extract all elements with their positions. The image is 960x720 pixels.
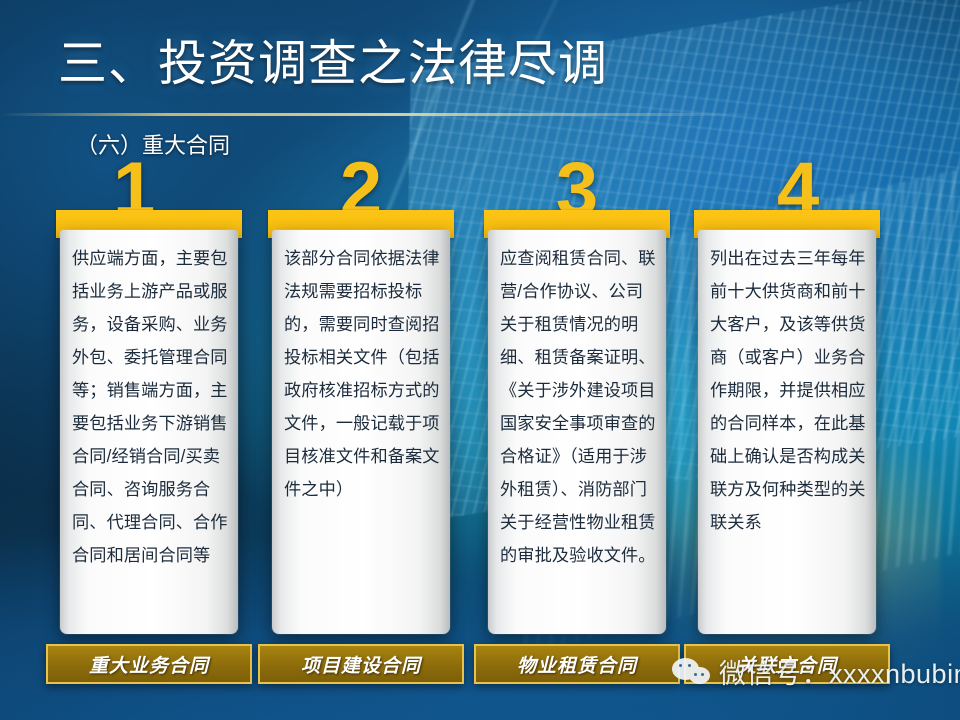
column-body-text: 应查阅租赁合同、联营/合作协议、公司关于租赁情况的明细、租赁备案证明、《关于涉外… bbox=[500, 242, 656, 572]
column-label-text: 物业租赁合同 bbox=[517, 651, 637, 678]
content-column-2: 2 该部分合同依据法律法规需要招标投标的，需要同时查阅招投标相关文件（包括政府核… bbox=[268, 158, 454, 698]
column-card[interactable]: 应查阅租赁合同、联营/合作协议、公司关于租赁情况的明细、租赁备案证明、《关于涉外… bbox=[488, 230, 666, 634]
column-label-badge[interactable]: 物业租赁合同 bbox=[474, 644, 680, 684]
column-body-text: 供应端方面，主要包括业务上游产品或服务，设备采购、业务外包、委托管理合同等；销售… bbox=[72, 242, 228, 572]
content-column-4: 4 列出在过去三年每年前十大供货商和前十大客户，及该等供货商（或客户）业务合作期… bbox=[694, 158, 880, 698]
column-card[interactable]: 列出在过去三年每年前十大供货商和前十大客户，及该等供货商（或客户）业务合作期限，… bbox=[698, 230, 876, 634]
column-body-text: 列出在过去三年每年前十大供货商和前十大客户，及该等供货商（或客户）业务合作期限，… bbox=[710, 242, 866, 539]
column-label-badge[interactable]: 关联方合同 bbox=[684, 644, 890, 684]
content-column-3: 3 应查阅租赁合同、联营/合作协议、公司关于租赁情况的明细、租赁备案证明、《关于… bbox=[484, 158, 670, 698]
slide-canvas: 三、投资调查之法律尽调 （六）重大合同 1 供应端方面，主要包括业务上游产品或服… bbox=[0, 0, 960, 720]
content-column-1: 1 供应端方面，主要包括业务上游产品或服务，设备采购、业务外包、委托管理合同等；… bbox=[56, 158, 242, 698]
column-card[interactable]: 该部分合同依据法律法规需要招标投标的，需要同时查阅招投标相关文件（包括政府核准招… bbox=[272, 230, 450, 634]
column-label-text: 重大业务合同 bbox=[89, 651, 209, 678]
content-columns: 1 供应端方面，主要包括业务上游产品或服务，设备采购、业务外包、委托管理合同等；… bbox=[0, 158, 960, 698]
column-label-badge[interactable]: 项目建设合同 bbox=[258, 644, 464, 684]
column-label-text: 关联方合同 bbox=[737, 651, 837, 678]
column-card[interactable]: 供应端方面，主要包括业务上游产品或服务，设备采购、业务外包、委托管理合同等；销售… bbox=[60, 230, 238, 634]
page-title: 三、投资调查之法律尽调 bbox=[58, 38, 608, 90]
column-label-badge[interactable]: 重大业务合同 bbox=[46, 644, 252, 684]
title-divider bbox=[0, 113, 757, 116]
column-label-text: 项目建设合同 bbox=[301, 651, 421, 678]
column-body-text: 该部分合同依据法律法规需要招标投标的，需要同时查阅招投标相关文件（包括政府核准招… bbox=[284, 242, 440, 506]
